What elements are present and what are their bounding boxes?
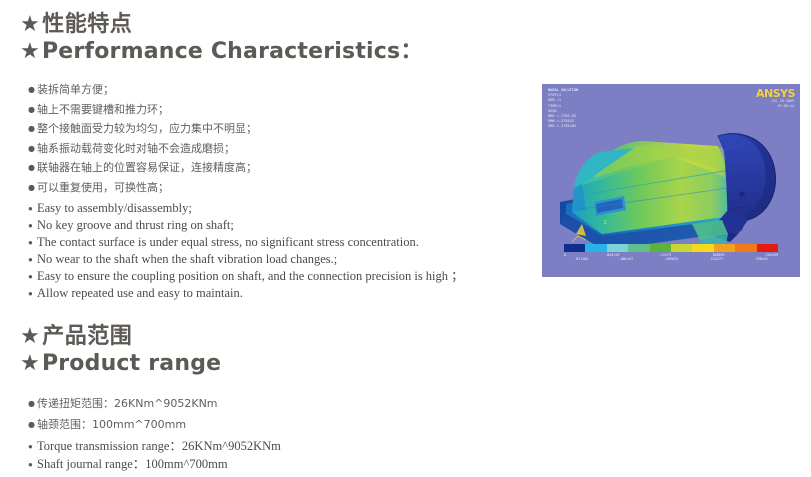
ansys-date: JUL 18 2009 <box>772 99 794 104</box>
colorbar-swatch <box>714 244 735 252</box>
product-range-heading-group: ★产品范围 ★Product range <box>20 324 221 378</box>
bullet-icon: ● <box>28 184 37 192</box>
colorbar-swatch <box>607 244 628 252</box>
product-range-heading-cn-text: 产品范围 <box>42 324 132 349</box>
ansys-time: 07:08:44 <box>772 104 794 109</box>
product-range-list-en: ●Torque transmission range：26KNm^9052KNm… <box>28 437 281 473</box>
star-icon: ★ <box>20 38 40 66</box>
colorbar-tick: .8e4/e5 <box>605 253 619 257</box>
list-item-label: 联轴器在轴上的位置容易保证，连接精度高； <box>37 158 257 178</box>
poster-page: ★性能特点 ★Performance Characteristics： ●装拆简… <box>0 0 811 477</box>
list-item-label: Shaft journal range：100mm^700mm <box>37 455 228 473</box>
performance-list-en: ●Easy to assembly/disassembly; ●No key g… <box>28 200 464 302</box>
colorbar-strip <box>564 244 778 252</box>
list-item-label: Easy to ensure the coupling position on … <box>37 268 464 285</box>
ansys-timestamp: JUL 18 2009 07:08:44 <box>772 99 794 108</box>
list-item-label: The contact surface is under equal stres… <box>37 234 419 251</box>
product-range-heading-cn: ★产品范围 <box>20 324 221 350</box>
product-range-heading-en-text: Product range <box>42 351 221 376</box>
axis-triad-label: Z <box>604 220 606 225</box>
bullet-icon: ● <box>28 222 37 230</box>
colorbar-swatch <box>650 244 671 252</box>
list-item: ●No key groove and thrust ring on shaft; <box>28 217 464 234</box>
performance-list-cn: ●装拆简单方便； ●轴上不需要键槽和推力环； ●整个接触面受力较为均匀，应力集中… <box>28 80 257 197</box>
colorbar-swatch <box>671 244 692 252</box>
list-item-label: 传递扭矩范围：26KNm^9052KNm <box>37 393 218 414</box>
bullet-icon: ● <box>28 205 37 213</box>
colorbar-tick: .212277 <box>709 257 723 261</box>
colorbar-tick: .00e147 <box>619 257 633 261</box>
ansys-info-line: SMX =.279E+02 <box>548 124 578 129</box>
colorbar-swatch <box>757 244 778 252</box>
list-item-label: 可以重复使用，可换性高； <box>37 178 169 198</box>
performance-heading-cn-text: 性能特点 <box>42 12 132 37</box>
list-item-label: 整个接触面受力较为均匀，应力集中不明显； <box>37 119 257 139</box>
bullet-icon: ● <box>28 400 37 408</box>
bullet-icon: ● <box>28 164 37 172</box>
list-item: ●装拆简单方便； <box>28 80 257 100</box>
list-item-label: No key groove and thrust ring on shaft; <box>37 217 234 234</box>
list-item-label: Torque transmission range：26KNm^9052KNm <box>37 437 281 455</box>
colorbar-labels-lower: .071182 .00e147 .16E032 .212277 .298e41 <box>564 257 778 261</box>
list-item: ●轴系振动载荷变化时对轴不会造成磨损； <box>28 139 257 159</box>
list-item-label: No wear to the shaft when the shaft vibr… <box>37 251 337 268</box>
bullet-icon: ● <box>28 273 37 281</box>
star-icon: ★ <box>20 324 40 350</box>
list-item-label: 装拆简单方便； <box>37 80 114 100</box>
product-range-list-cn: ●传递扭矩范围：26KNm^9052KNm ●轴颈范围：100mm^700mm <box>28 393 218 435</box>
colorbar-swatch <box>585 244 606 252</box>
performance-heading-group: ★性能特点 ★Performance Characteristics： <box>20 12 423 66</box>
list-item: ●轴颈范围：100mm^700mm <box>28 414 218 435</box>
list-item-label: 轴颈范围：100mm^700mm <box>37 414 186 435</box>
colorbar-swatch <box>735 244 756 252</box>
list-item: ●Shaft journal range：100mm^700mm <box>28 455 281 473</box>
list-item: ●联轴器在轴上的位置容易保证，连接精度高； <box>28 158 257 178</box>
colorbar-tick: .298e41 <box>754 257 768 261</box>
colorbar-tick: .16E032 <box>664 257 678 261</box>
bullet-icon: ● <box>28 461 37 469</box>
bullet-icon: ● <box>28 125 37 133</box>
star-icon: ★ <box>20 12 40 38</box>
list-item: ●No wear to the shaft when the shaft vib… <box>28 251 464 268</box>
list-item-label: 轴系振动载荷变化时对轴不会造成磨损； <box>37 139 235 159</box>
performance-heading-cn: ★性能特点 <box>20 12 423 38</box>
list-item-label: Allow repeated use and easy to maintain. <box>37 285 243 302</box>
list-item: ●Easy to assembly/disassembly; <box>28 200 464 217</box>
bullet-icon: ● <box>28 239 37 247</box>
performance-heading-en: ★Performance Characteristics： <box>20 38 423 66</box>
list-item: ●轴上不需要键槽和推力环； <box>28 100 257 120</box>
colorbar-swatch <box>628 244 649 252</box>
colorbar-swatch <box>564 244 585 252</box>
list-item: ●Allow repeated use and easy to maintain… <box>28 285 464 302</box>
bullet-icon: ● <box>28 86 37 94</box>
colorbar-tick: 0 <box>564 253 566 257</box>
bullet-icon: ● <box>28 443 37 451</box>
star-icon: ★ <box>20 350 40 378</box>
bullet-icon: ● <box>28 290 37 298</box>
bullet-icon: ● <box>28 421 37 429</box>
list-item-label: Easy to assembly/disassembly; <box>37 200 192 217</box>
colorbar-tick: .071182 <box>574 257 588 261</box>
list-item: ●Torque transmission range：26KNm^9052KNm <box>28 437 281 455</box>
bullet-icon: ● <box>28 106 37 114</box>
list-item: ●Easy to ensure the coupling position on… <box>28 268 464 285</box>
list-item: ●可以重复使用，可换性高； <box>28 178 257 198</box>
performance-heading-en-text: Performance Characteristics： <box>42 39 423 64</box>
ansys-solution-info: NODAL SOLUTION STEP=1 SUB =1 TIME=1 SEQV… <box>548 88 578 130</box>
list-item: ●整个接触面受力较为均匀，应力集中不明显； <box>28 119 257 139</box>
list-item-label: 轴上不需要键槽和推力环； <box>37 100 169 120</box>
list-item: ●传递扭矩范围：26KNm^9052KNm <box>28 393 218 414</box>
product-range-heading-en: ★Product range <box>20 350 221 378</box>
bullet-icon: ● <box>28 145 37 153</box>
list-item: ●The contact surface is under equal stre… <box>28 234 464 251</box>
colorbar-legend: 0 .8e4/e5 .11173 .188895 .2e5439 .071182… <box>564 244 778 261</box>
bullet-icon: ● <box>28 256 37 264</box>
colorbar-swatch <box>692 244 713 252</box>
ansys-fea-plot: ANSYS JUL 18 2009 07:08:44 NODAL SOLUTIO… <box>542 84 800 277</box>
